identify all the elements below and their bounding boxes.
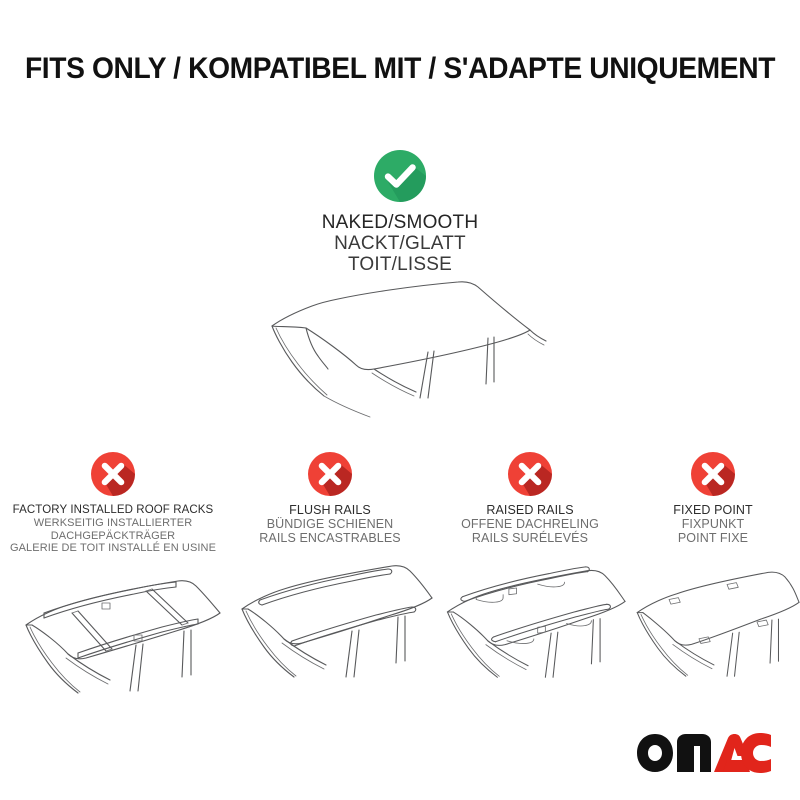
incompatible-roof-type-card-factory-racks: FACTORY INSTALLED ROOF RACKS WERKSEITIG … bbox=[0, 452, 226, 733]
label-de-1: BÜNDIGE SCHIENEN bbox=[226, 517, 434, 531]
compatible-roof-type-labels: NAKED/SMOOTH NACKT/GLATT TOIT/LISSE bbox=[250, 212, 550, 275]
roof-type-labels: FIXED POINT FIXPUNKT POINT FIXE bbox=[626, 503, 800, 545]
car-roof-naked-smooth-illustration bbox=[262, 276, 582, 441]
car-roof-fixed-point-illustration bbox=[626, 553, 800, 723]
omac-logo bbox=[636, 732, 772, 774]
incompatible-roof-type-card-fixed-point: FIXED POINT FIXPUNKT POINT FIXE bbox=[626, 452, 800, 723]
label-de-2: DACHGEPÄCKTRÄGER bbox=[0, 530, 226, 543]
x-circle-icon bbox=[508, 452, 552, 496]
label-fr: GALERIE DE TOIT INSTALLÉ EN USINE bbox=[0, 542, 226, 555]
label-en: FLUSH RAILS bbox=[226, 503, 434, 517]
label-en: RAISED RAILS bbox=[434, 503, 626, 517]
label-en: FIXED POINT bbox=[626, 503, 800, 517]
label-fr: RAILS SURÉLEVÉS bbox=[434, 531, 626, 545]
check-circle-icon bbox=[374, 150, 426, 202]
x-circle-icon bbox=[91, 452, 135, 496]
incompatible-roof-type-card-flush-rails: FLUSH RAILS BÜNDIGE SCHIENEN RAILS ENCAS… bbox=[226, 452, 434, 723]
label-fr: RAILS ENCASTRABLES bbox=[226, 531, 434, 545]
label-de-1: FIXPUNKT bbox=[626, 517, 800, 531]
label-fr: TOIT/LISSE bbox=[250, 254, 550, 275]
car-roof-raised-rails-illustration bbox=[434, 553, 626, 723]
x-circle-icon bbox=[691, 452, 735, 496]
label-en: NAKED/SMOOTH bbox=[250, 212, 550, 233]
label-de-1: OFFENE DACHRELING bbox=[434, 517, 626, 531]
roof-type-labels: FLUSH RAILS BÜNDIGE SCHIENEN RAILS ENCAS… bbox=[226, 503, 434, 545]
compatible-roof-type-card: NAKED/SMOOTH NACKT/GLATT TOIT/LISSE bbox=[250, 150, 550, 275]
label-fr: POINT FIXE bbox=[626, 531, 800, 545]
incompatible-roof-types-row: FACTORY INSTALLED ROOF RACKS WERKSEITIG … bbox=[0, 452, 800, 752]
incompatible-roof-type-card-raised-rails: RAISED RAILS OFFENE DACHRELING RAILS SUR… bbox=[434, 452, 626, 723]
car-roof-factory-roof-racks-illustration bbox=[0, 563, 226, 733]
label-de-1: WERKSEITIG INSTALLIERTER bbox=[0, 517, 226, 530]
label-en: FACTORY INSTALLED ROOF RACKS bbox=[0, 503, 226, 517]
page-title: FITS ONLY / KOMPATIBEL MIT / S'ADAPTE UN… bbox=[24, 52, 776, 86]
car-roof-flush-rails-illustration bbox=[226, 553, 434, 723]
roof-type-labels: FACTORY INSTALLED ROOF RACKS WERKSEITIG … bbox=[0, 503, 226, 555]
label-de: NACKT/GLATT bbox=[250, 233, 550, 254]
x-circle-icon bbox=[308, 452, 352, 496]
roof-type-labels: RAISED RAILS OFFENE DACHRELING RAILS SUR… bbox=[434, 503, 626, 545]
